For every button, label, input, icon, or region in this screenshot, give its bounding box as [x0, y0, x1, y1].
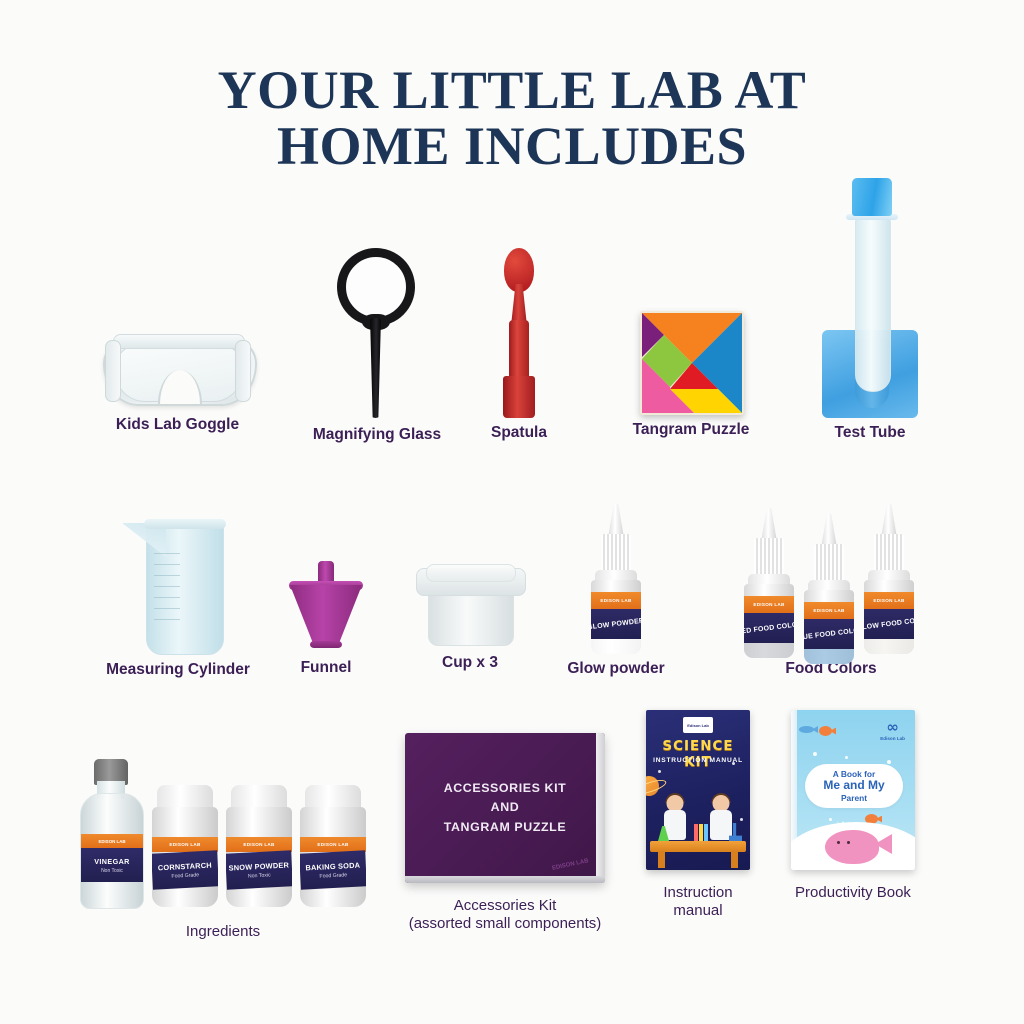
item-label: Productivity Book [768, 884, 938, 902]
jar-name: CORNSTARCH [158, 860, 212, 872]
item-cup[interactable]: Cup x 3 [416, 562, 524, 673]
manual-logo: Edison Lab [683, 717, 713, 733]
item-label: Magnifying Glass [297, 426, 457, 445]
infinity-icon: ∞ [880, 720, 905, 735]
funnel-icon [290, 557, 362, 653]
blue-fish-icon [799, 726, 818, 733]
title-line-2: HOME INCLUDES [0, 118, 1024, 174]
spatula-icon [498, 248, 540, 418]
item-label: Glow powder [536, 660, 696, 679]
bottle-name: BLUE FOOD COLOR [804, 626, 854, 642]
jar-brand: EDISON LAB [243, 842, 274, 847]
item-label: Kids Lab Goggle [100, 416, 255, 435]
jar-cornstarch: EDISON LAB CORNSTARCH Food Grade [152, 785, 218, 907]
item-label: Ingredients [78, 923, 368, 941]
bottle-brand: EDISON LAB [600, 598, 631, 603]
bottle-name: YELLOW FOOD COLOR [864, 615, 914, 632]
tangram-puzzle-icon [640, 311, 744, 415]
manual-subtitle: INSTRUCTION MANUAL [646, 757, 750, 764]
item-label: Accessories Kit (assorted small componen… [380, 897, 630, 934]
item-label: Cup x 3 [400, 654, 540, 673]
bottle-name: RED FOOD COLOR [744, 620, 794, 635]
box-logo: EDISON LAB [552, 858, 590, 873]
item-label: Funnel [256, 659, 396, 678]
bottle-brand: EDISON LAB [873, 598, 904, 603]
bottle-name: GLOW POWDER [591, 617, 641, 631]
item-label: Test Tube [800, 424, 940, 443]
box-text: ACCESSORIES KIT AND TANGRAM PUZZLE [444, 779, 567, 837]
book-logo-name: Edison Lab [880, 736, 905, 741]
item-label: Instruction manual [618, 884, 778, 921]
safety-goggles-icon [103, 330, 253, 410]
page-title: YOUR LITTLE LAB AT HOME INCLUDES [0, 62, 1024, 174]
item-instruction-manual[interactable]: Edison Lab SCIENCE KIT INSTRUCTION MANUA… [646, 710, 750, 921]
jar-baking-soda: EDISON LAB BAKING SODA Food Grade [300, 785, 366, 907]
jar-brand: EDISON LAB [169, 842, 200, 847]
item-kids-lab-goggle[interactable]: Kids Lab Goggle [100, 330, 255, 435]
ingredient-jars-icon: EDISON LAB VINEGAR Non Toxic EDISON LAB … [78, 757, 368, 907]
item-accessories-kit[interactable]: ACCESSORIES KIT AND TANGRAM PUZZLE EDISO… [405, 733, 605, 934]
title-line-1: YOUR LITTLE LAB AT [218, 60, 807, 120]
tangram-svg [640, 311, 744, 415]
bottle-grade: Non Toxic [101, 868, 123, 874]
dropper-bottle-group-icon: EDISON LAB RED FOOD COLOR EDISON LAB BLU… [736, 504, 926, 654]
item-spatula[interactable]: Spatula [497, 248, 541, 443]
manual-title: SCIENCE KIT [646, 738, 750, 770]
item-label: Spatula [459, 424, 579, 443]
bottle-vinegar: EDISON LAB VINEGAR Non Toxic [80, 759, 142, 907]
bottle-yellow-food-color: EDISON LAB YELLOW FOOD COLOR [860, 504, 918, 654]
jar-name: SNOW POWDER [228, 860, 289, 872]
bottle-brand: EDISON LAB [813, 608, 844, 613]
book-logo: ∞ Edison Lab [880, 720, 905, 741]
manual-test-tubes-icon [694, 824, 708, 841]
bottle-brand: EDISON LAB [98, 839, 125, 844]
instruction-manual-icon: Edison Lab SCIENCE KIT INSTRUCTION MANUA… [646, 710, 750, 870]
orange-fish-icon [819, 726, 836, 736]
accessories-box-icon: ACCESSORIES KIT AND TANGRAM PUZZLE EDISO… [405, 733, 605, 883]
jar-grade: Non Toxic [248, 872, 271, 879]
product-contents-infographic: YOUR LITTLE LAB AT HOME INCLUDES Kids La… [0, 0, 1024, 1024]
item-magnifying-glass[interactable]: Magnifying Glass [333, 248, 421, 445]
item-label: Tangram Puzzle [611, 421, 771, 440]
jar-grade: Food Grade [319, 872, 347, 879]
item-glow-powder[interactable]: EDISON LAB GLOW POWDER Glow powder [587, 504, 645, 679]
measuring-cylinder-icon [122, 515, 234, 655]
dropper-bottle-icon: EDISON LAB GLOW POWDER [587, 504, 645, 654]
jar-grade: Food Grade [171, 872, 199, 879]
jar-name: BAKING SODA [305, 860, 360, 872]
jar-snow-powder: EDISON LAB SNOW POWDER Non Toxic [226, 785, 292, 907]
item-funnel[interactable]: Funnel [290, 557, 362, 678]
bottle-blue-food-color: EDISON LAB BLUE FOOD COLOR [800, 514, 858, 664]
manual-kid-boy [708, 795, 734, 841]
whale-icon [825, 830, 879, 864]
item-ingredients[interactable]: EDISON LAB VINEGAR Non Toxic EDISON LAB … [78, 757, 368, 941]
bottle-red-food-color: EDISON LAB RED FOOD COLOR [740, 508, 798, 658]
item-test-tube[interactable]: Test Tube [822, 178, 918, 443]
book-title-cloud: A Book for Me and My Parent [805, 764, 903, 808]
bottle-name: VINEGAR [94, 857, 130, 866]
item-tangram-puzzle[interactable]: Tangram Puzzle [639, 311, 744, 440]
cup-icon [416, 562, 524, 648]
test-tube-with-stand-icon [822, 178, 918, 418]
magnifying-glass-icon [334, 248, 420, 420]
item-food-colors[interactable]: EDISON LAB RED FOOD COLOR EDISON LAB BLU… [736, 504, 926, 679]
book-title-line-2: Me and My [823, 779, 884, 792]
item-productivity-book[interactable]: ∞ Edison Lab A Book for Me and My Parent [791, 710, 915, 902]
item-measuring-cylinder[interactable]: Measuring Cylinder [122, 515, 234, 680]
item-label: Measuring Cylinder [83, 661, 273, 680]
jar-brand: EDISON LAB [317, 842, 348, 847]
productivity-book-icon: ∞ Edison Lab A Book for Me and My Parent [791, 710, 915, 870]
bottle-brand: EDISON LAB [753, 602, 784, 607]
book-title-line-3: Parent [841, 793, 867, 803]
